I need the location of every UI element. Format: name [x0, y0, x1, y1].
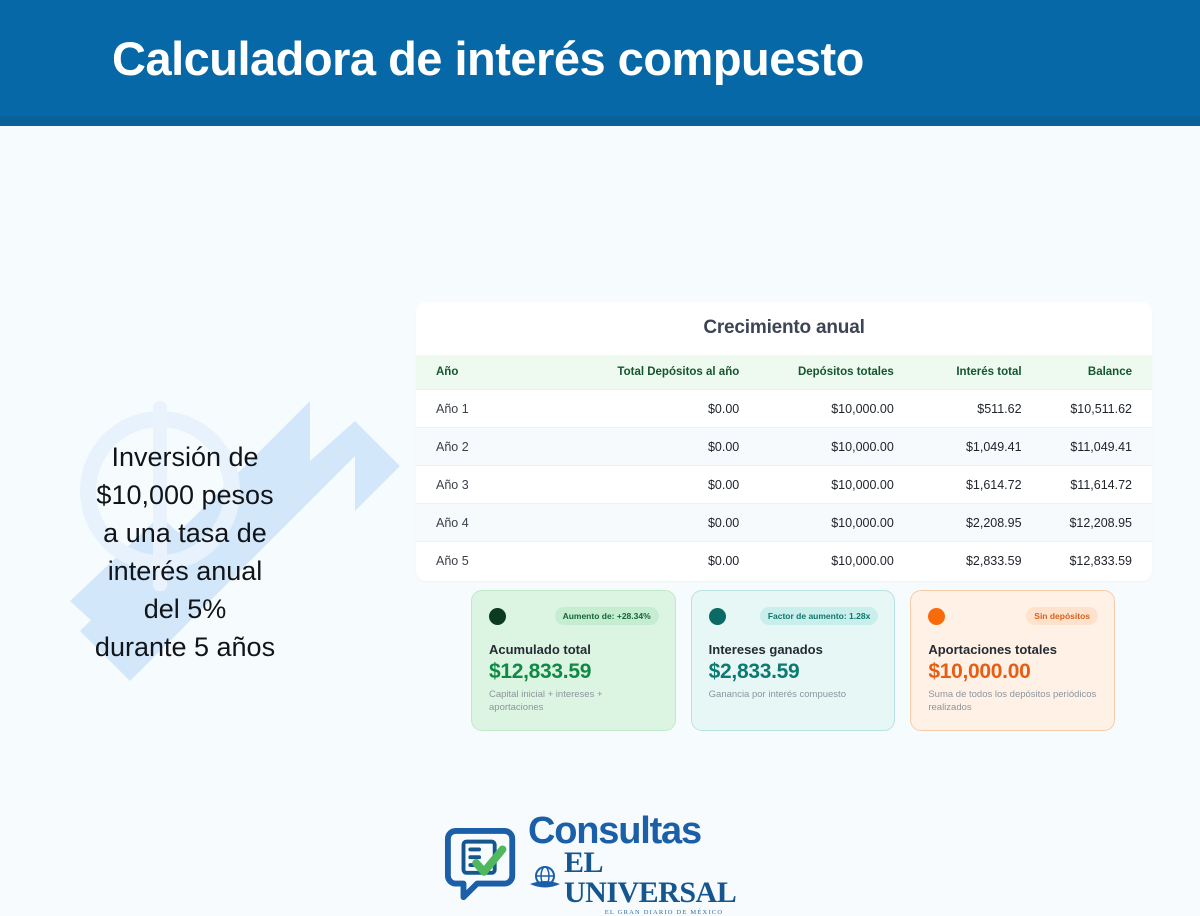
- column-header-interest-total: Interés total: [924, 355, 1042, 390]
- cell-interest-total: $511.62: [924, 390, 1042, 428]
- card-description: Ganancia por interés compuesto: [709, 688, 879, 701]
- cell-deposits-total: $10,000.00: [769, 504, 924, 542]
- table-header-row: Año Total Depósitos al año Depósitos tot…: [416, 355, 1152, 390]
- cell-deposits-total: $10,000.00: [769, 466, 924, 504]
- cell-deposits-year: $0.00: [593, 466, 770, 504]
- globe-eagle-icon: [528, 863, 562, 893]
- cell-balance: $12,833.59: [1042, 542, 1152, 580]
- header-accent-strip: [0, 116, 1200, 126]
- logo-paper-name: EL UNIVERSAL: [564, 848, 764, 908]
- summary-card-total-contributions: Sin depósitos Aportaciones totales $10,0…: [910, 590, 1115, 731]
- status-dot-icon: [928, 608, 945, 625]
- page-header: Calculadora de interés compuesto: [0, 0, 1200, 116]
- cell-year: Año 3: [416, 466, 593, 504]
- annual-growth-table-card: Crecimiento anual Año Total Depósitos al…: [416, 302, 1152, 581]
- table-row: Año 1 $0.00 $10,000.00 $511.62 $10,511.6…: [416, 390, 1152, 428]
- card-top-row: Factor de aumento: 1.28x: [709, 607, 879, 625]
- status-dot-icon: [489, 608, 506, 625]
- cell-interest-total: $2,208.95: [924, 504, 1042, 542]
- status-badge: Aumento de: +28.34%: [555, 607, 659, 625]
- caption-line-1: Inversión de: [20, 438, 350, 476]
- table-body: Año 1 $0.00 $10,000.00 $511.62 $10,511.6…: [416, 390, 1152, 580]
- card-top-row: Aumento de: +28.34%: [489, 607, 659, 625]
- cell-year: Año 1: [416, 390, 593, 428]
- cell-deposits-year: $0.00: [593, 428, 770, 466]
- card-label: Intereses ganados: [709, 642, 879, 657]
- cell-year: Año 4: [416, 504, 593, 542]
- caption-line-5: del 5%: [20, 590, 350, 628]
- status-badge: Factor de aumento: 1.28x: [760, 607, 879, 625]
- logo-brand-name: Consultas: [528, 812, 764, 850]
- cell-deposits-year: $0.00: [593, 390, 770, 428]
- table-row: Año 5 $0.00 $10,000.00 $2,833.59 $12,833…: [416, 542, 1152, 580]
- summary-card-interest-earned: Factor de aumento: 1.28x Intereses ganad…: [691, 590, 896, 731]
- table-title: Crecimiento anual: [416, 302, 1152, 355]
- cell-deposits-year: $0.00: [593, 504, 770, 542]
- card-top-row: Sin depósitos: [928, 607, 1098, 625]
- table-row: Año 2 $0.00 $10,000.00 $1,049.41 $11,049…: [416, 428, 1152, 466]
- card-value: $10,000.00: [928, 660, 1098, 684]
- table-header: Año Total Depósitos al año Depósitos tot…: [416, 355, 1152, 390]
- caption-line-4: interés anual: [20, 552, 350, 590]
- speech-bubble-document-check-icon: [444, 825, 522, 907]
- cell-balance: $11,614.72: [1042, 466, 1152, 504]
- cell-deposits-total: $10,000.00: [769, 542, 924, 580]
- card-description: Capital inicial + intereses + aportacion…: [489, 688, 659, 714]
- summary-card-accumulated-total: Aumento de: +28.34% Acumulado total $12,…: [471, 590, 676, 731]
- column-header-deposits-total: Depósitos totales: [769, 355, 924, 390]
- caption-line-6: durante 5 años: [20, 628, 350, 666]
- card-label: Acumulado total: [489, 642, 659, 657]
- cell-balance: $12,208.95: [1042, 504, 1152, 542]
- annual-growth-table: Año Total Depósitos al año Depósitos tot…: [416, 355, 1152, 579]
- cell-interest-total: $1,049.41: [924, 428, 1042, 466]
- card-label: Aportaciones totales: [928, 642, 1098, 657]
- cell-year: Año 2: [416, 428, 593, 466]
- status-dot-icon: [709, 608, 726, 625]
- cell-deposits-total: $10,000.00: [769, 428, 924, 466]
- table-row: Año 3 $0.00 $10,000.00 $1,614.72 $11,614…: [416, 466, 1152, 504]
- cell-interest-total: $2,833.59: [924, 542, 1042, 580]
- card-value: $2,833.59: [709, 660, 879, 684]
- logo-text-block: Consultas EL UNIVERSAL EL GRAN DIARIO DE…: [528, 812, 764, 916]
- table-row: Año 4 $0.00 $10,000.00 $2,208.95 $12,208…: [416, 504, 1152, 542]
- caption-line-3: a una tasa de: [20, 514, 350, 552]
- page-title: Calculadora de interés compuesto: [112, 31, 864, 86]
- investment-summary-text: Inversión de $10,000 pesos a una tasa de…: [20, 438, 350, 666]
- brand-logo: Consultas EL UNIVERSAL EL GRAN DIARIO DE…: [444, 820, 764, 912]
- card-value: $12,833.59: [489, 660, 659, 684]
- status-badge: Sin depósitos: [1026, 607, 1098, 625]
- cell-interest-total: $1,614.72: [924, 466, 1042, 504]
- column-header-balance: Balance: [1042, 355, 1152, 390]
- summary-cards: Aumento de: +28.34% Acumulado total $12,…: [471, 590, 1115, 731]
- cell-balance: $11,049.41: [1042, 428, 1152, 466]
- page-body: Inversión de $10,000 pesos a una tasa de…: [0, 126, 1200, 800]
- column-header-deposits-year: Total Depósitos al año: [593, 355, 770, 390]
- caption-line-2: $10,000 pesos: [20, 476, 350, 514]
- cell-deposits-year: $0.00: [593, 542, 770, 580]
- cell-balance: $10,511.62: [1042, 390, 1152, 428]
- logo-tagline: EL GRAN DIARIO DE MÉXICO: [564, 909, 764, 916]
- logo-paper-row: EL UNIVERSAL: [528, 848, 764, 908]
- column-header-year: Año: [416, 355, 593, 390]
- card-description: Suma de todos los depósitos periódicos r…: [928, 688, 1098, 714]
- cell-year: Año 5: [416, 542, 593, 580]
- cell-deposits-total: $10,000.00: [769, 390, 924, 428]
